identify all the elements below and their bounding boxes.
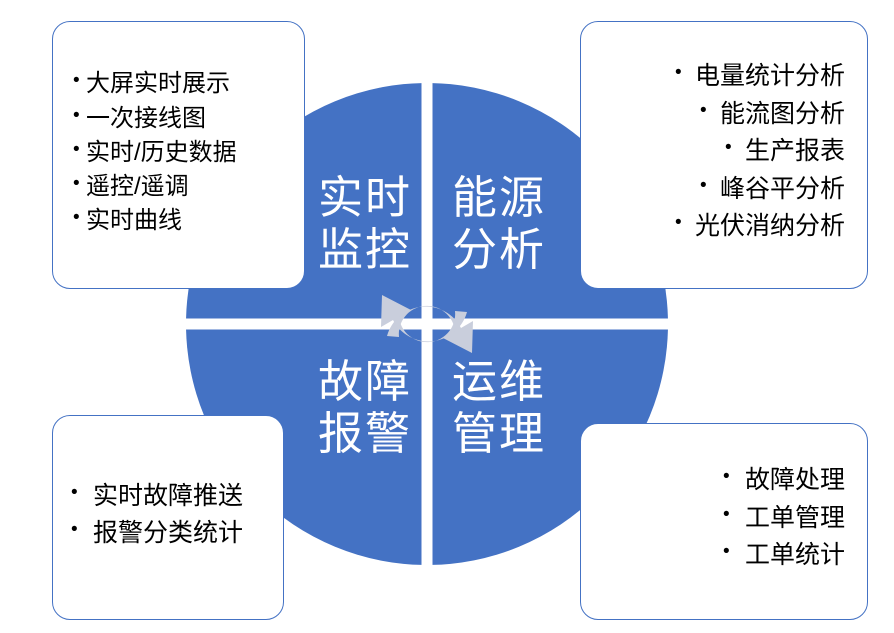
list-item: • 峰谷平分析 xyxy=(595,174,845,205)
callout-fault-alarm: • 实时故障推送 • 报警分类统计 xyxy=(52,415,284,620)
list-item: • 实时/历史数据 xyxy=(73,138,290,167)
callout-energy-analysis: • 电量统计分析 • 能流图分析 • 生产报表 • 峰谷平分析 • 光伏消纳分析 xyxy=(580,21,868,289)
list-item-label: 工单统计 xyxy=(745,540,845,571)
list-item-label: 实时/历史数据 xyxy=(86,138,290,167)
bullet-icon: • xyxy=(73,172,86,195)
list-item: • 能流图分析 xyxy=(595,99,845,130)
bullet-icon: • xyxy=(71,518,93,541)
list-item-label: 大屏实时展示 xyxy=(86,69,290,98)
list-item: • 故障处理 xyxy=(595,465,845,496)
bullet-icon: • xyxy=(725,136,745,159)
list-item: • 实时故障推送 xyxy=(71,481,273,512)
bullet-icon: • xyxy=(675,211,695,234)
list-item: • 生产报表 xyxy=(595,136,845,167)
list-item-label: 实时曲线 xyxy=(86,206,290,235)
list-item-label: 生产报表 xyxy=(745,136,845,167)
list-item: • 遥控/遥调 xyxy=(73,172,290,201)
bullet-icon: • xyxy=(675,61,695,84)
bullet-icon: • xyxy=(73,69,86,92)
list-item-label: 一次接线图 xyxy=(86,104,290,133)
bullet-icon: • xyxy=(73,104,86,127)
list-item-label: 遥控/遥调 xyxy=(86,172,290,201)
bullet-icon: • xyxy=(723,503,745,526)
list-item: • 报警分类统计 xyxy=(71,518,273,549)
list-item-label: 光伏消纳分析 xyxy=(695,211,845,242)
bullet-icon: • xyxy=(700,99,720,122)
list-item: • 工单统计 xyxy=(595,540,845,571)
callout-list: • 大屏实时展示 • 一次接线图 • 实时/历史数据 • 遥控/遥调 • 实时曲… xyxy=(73,69,290,240)
bullet-icon: • xyxy=(71,481,93,504)
list-item: • 实时曲线 xyxy=(73,206,290,235)
list-item: • 电量统计分析 xyxy=(595,61,845,92)
list-item-label: 工单管理 xyxy=(745,503,845,534)
callout-list: • 实时故障推送 • 报警分类统计 xyxy=(71,481,273,554)
list-item: • 工单管理 xyxy=(595,503,845,534)
list-item-label: 故障处理 xyxy=(745,465,845,496)
callout-list: • 电量统计分析 • 能流图分析 • 生产报表 • 峰谷平分析 • 光伏消纳分析 xyxy=(595,61,845,249)
bullet-icon: • xyxy=(700,174,720,197)
list-item: • 大屏实时展示 xyxy=(73,69,290,98)
diagram-canvas: 实时 监控 能源 分析 故障 报警 运维 管理 • 大屏实时展示 • 一次接线图… xyxy=(0,0,894,633)
list-item-label: 实时故障推送 xyxy=(93,481,253,512)
callout-ops-management: • 故障处理 • 工单管理 • 工单统计 xyxy=(580,423,868,620)
callout-realtime-monitoring: • 大屏实时展示 • 一次接线图 • 实时/历史数据 • 遥控/遥调 • 实时曲… xyxy=(52,21,305,289)
list-item-label: 报警分类统计 xyxy=(93,518,253,549)
list-item: • 光伏消纳分析 xyxy=(595,211,845,242)
bullet-icon: • xyxy=(73,138,86,161)
list-item-label: 峰谷平分析 xyxy=(720,174,845,205)
callout-list: • 故障处理 • 工单管理 • 工单统计 xyxy=(595,465,845,578)
bullet-icon: • xyxy=(723,465,745,488)
bullet-icon: • xyxy=(73,206,86,229)
bullet-icon: • xyxy=(723,540,745,563)
list-item-label: 能流图分析 xyxy=(720,99,845,130)
list-item: • 一次接线图 xyxy=(73,104,290,133)
list-item-label: 电量统计分析 xyxy=(695,61,845,92)
